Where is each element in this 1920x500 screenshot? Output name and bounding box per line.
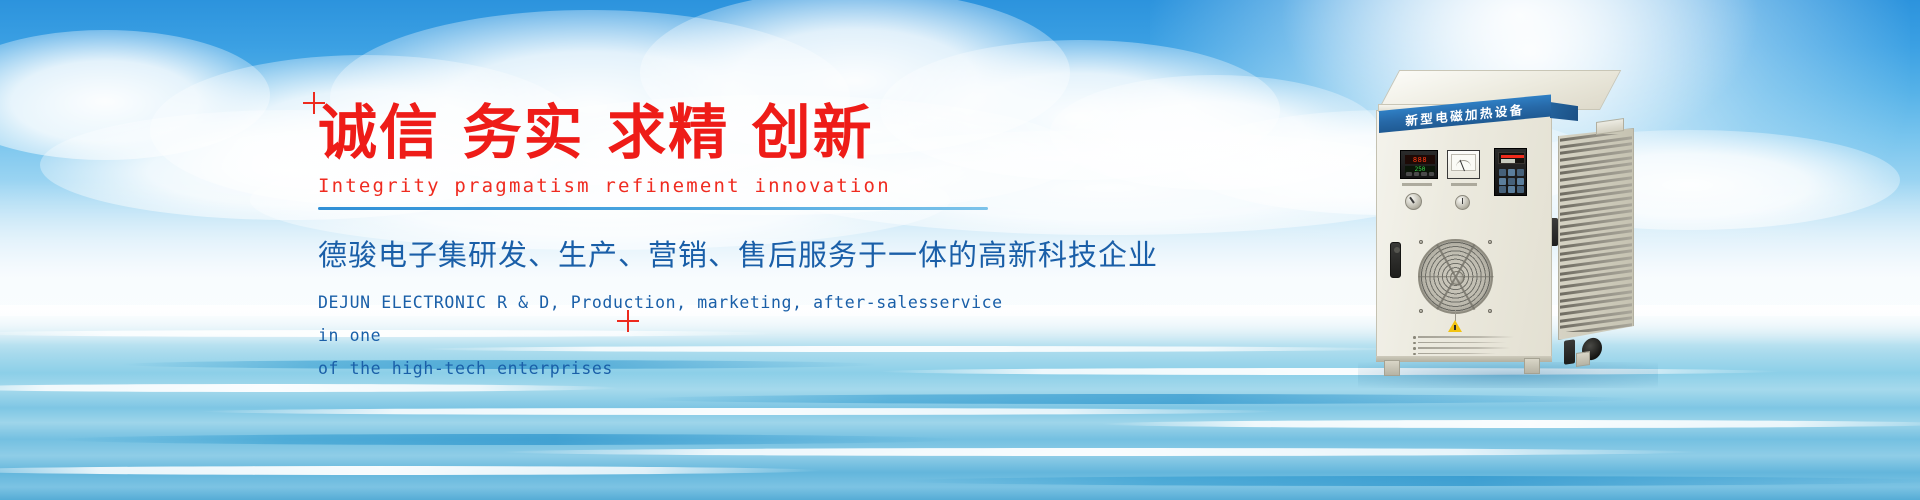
keypad-display bbox=[1498, 152, 1525, 164]
controller-buttons[interactable] bbox=[1406, 172, 1434, 176]
high-voltage-warning-icon bbox=[1448, 320, 1462, 332]
keypad-keys[interactable] bbox=[1499, 169, 1524, 193]
banner-description-chinese: 德骏电子集研发、生产、营销、售后服务于一体的高新科技企业 bbox=[318, 232, 1018, 274]
banner-text-block: 诚信 务实 求精 创新 Integrity pragmatism refinem… bbox=[318, 100, 1018, 385]
description-english-line-1: DEJUN ELECTRONIC R & D, Production, mark… bbox=[318, 286, 1018, 352]
cooling-fan-grille bbox=[1418, 239, 1493, 314]
product-image-heating-machine: 新型电磁加热设备 888 250 bbox=[1372, 66, 1642, 386]
selector-knob[interactable] bbox=[1405, 193, 1422, 210]
controller-caption bbox=[1402, 183, 1432, 186]
ventilation-louvers-icon bbox=[1560, 134, 1632, 332]
keypad-display-digits bbox=[1501, 159, 1524, 163]
banner-description-english: DEJUN ELECTRONIC R & D, Production, mark… bbox=[318, 286, 1018, 385]
specification-text-lines bbox=[1418, 336, 1514, 358]
temperature-controller[interactable]: 888 250 bbox=[1400, 150, 1438, 179]
divider-line bbox=[318, 207, 988, 210]
machine-foot bbox=[1524, 358, 1540, 374]
description-english-line-2: of the high-tech enterprises bbox=[318, 352, 1018, 385]
adjustment-knob[interactable] bbox=[1455, 195, 1470, 210]
inverter-keypad[interactable] bbox=[1494, 148, 1527, 196]
hero-banner: 诚信 务实 求精 创新 Integrity pragmatism refinem… bbox=[0, 0, 1920, 500]
banner-tagline-english: Integrity pragmatism refinement innovati… bbox=[318, 175, 1018, 197]
panel-lock-slot[interactable] bbox=[1390, 242, 1401, 278]
cable-outlet bbox=[1564, 339, 1575, 365]
machine-foot bbox=[1384, 360, 1400, 376]
analog-gauge bbox=[1447, 150, 1480, 179]
banner-headline: 诚信 务实 求精 创新 bbox=[318, 100, 1018, 166]
gauge-caption bbox=[1451, 183, 1477, 186]
controller-main-display: 888 bbox=[1405, 155, 1435, 164]
keypad-display-red-bar bbox=[1501, 155, 1524, 158]
product-shadow bbox=[1358, 362, 1658, 388]
machine-foot bbox=[1576, 351, 1590, 367]
